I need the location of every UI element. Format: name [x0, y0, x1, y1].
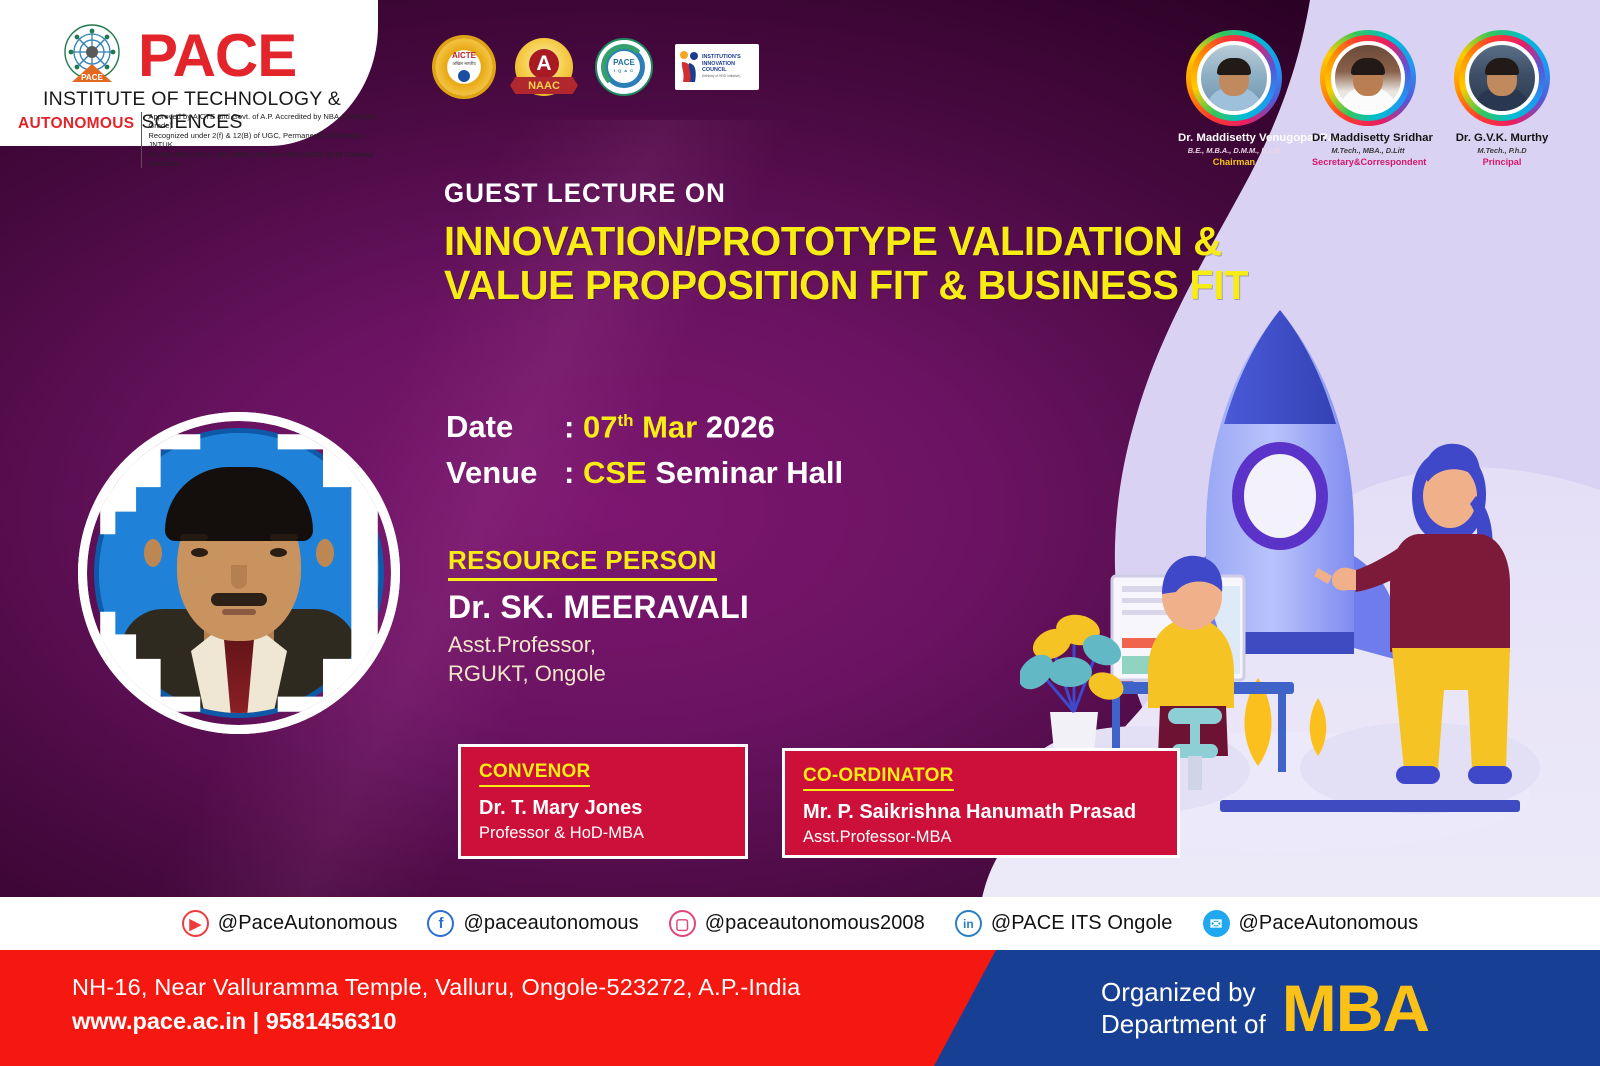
social-handle-instagram[interactable]: @paceautonomous2008: [705, 912, 925, 935]
leader-name: Dr. Maddisetty Venugopal Rao: [1178, 132, 1290, 145]
headline-line-2: VALUE PROPOSITION FIT & BUSINESS FIT: [444, 263, 1248, 307]
date-day: 07: [583, 409, 617, 444]
resource-person-designation: Asst.Professor,: [448, 630, 749, 659]
social-item-instagram[interactable]: ▢ @paceautonomous2008: [669, 910, 925, 937]
convenor-designation: Professor & HoD-MBA: [479, 824, 727, 843]
leadership-row: Dr. Maddisetty Venugopal Rao B.E., M.B.A…: [1178, 30, 1558, 167]
leader-qualification: M.Tech., MBA., D.Litt: [1312, 146, 1424, 155]
leader-role: Chairman: [1178, 157, 1290, 167]
naac-badge-sub: NAAC: [510, 77, 578, 94]
social-item-twitter[interactable]: ✉ @PaceAutonomous: [1203, 910, 1419, 937]
leader-role: Secretary&Correspondent: [1312, 157, 1424, 167]
convenor-name: Dr. T. Mary Jones: [479, 797, 727, 820]
convenor-heading: CONVENOR: [479, 761, 590, 787]
institution-logo-panel: PACE PACE INSTITUTE OF TECHNOLOGY & SCIE…: [0, 0, 378, 146]
aicte-badge-icon: AICTE अखिल भारतीय: [435, 38, 493, 96]
venue-highlight: CSE: [583, 455, 647, 490]
headline-title: INNOVATION/PROTOTYPE VALIDATION & VALUE …: [444, 219, 1248, 307]
date-day-suffix: th: [617, 411, 633, 430]
social-handle-linkedin[interactable]: @PACE ITS Ongole: [991, 912, 1173, 935]
date-month: Mar: [642, 409, 697, 444]
youtube-icon[interactable]: ▶: [182, 910, 209, 937]
facebook-icon[interactable]: f: [427, 910, 454, 937]
pace-wordmark: PACE: [138, 27, 296, 85]
aicte-badge-sub: अखिल भारतीय: [452, 60, 476, 68]
event-venue-row: Venue: CSE Seminar Hall: [446, 450, 843, 496]
leader-card-secretary: Dr. Maddisetty Sridhar M.Tech., MBA., D.…: [1312, 30, 1424, 167]
website-phone-text[interactable]: www.pace.ac.in | 9581456310: [72, 1008, 1010, 1035]
leader-qualification: M.Tech., P.h.D: [1446, 146, 1558, 155]
organized-line-1: Organized by: [1101, 976, 1266, 1008]
iic-badge-sub: (Ministry of HRD Initiative): [702, 73, 755, 79]
date-label: Date: [446, 404, 564, 450]
accreditation-line-2: Recognized under 2(f) & 12(B) of UGC, Pe…: [148, 131, 377, 150]
autonomous-label: AUTONOMOUS: [18, 112, 134, 133]
iic-badge-label: INSTITUTION'S INNOVATION COUNCIL: [702, 54, 755, 73]
venue-colon: :: [564, 455, 574, 490]
social-handle-facebook[interactable]: @paceautonomous: [463, 912, 638, 935]
leader-name: Dr. Maddisetty Sridhar: [1312, 132, 1424, 145]
iqac-badge-icon: PACE I Q A C: [595, 38, 653, 96]
coordinator-heading: CO-ORDINATOR: [803, 765, 954, 791]
coordinator-box: CO-ORDINATOR Mr. P. Saikrishna Hanumath …: [782, 748, 1180, 858]
address-text: NH-16, Near Valluramma Temple, Valluru, …: [72, 972, 1010, 1002]
svg-text:PACE: PACE: [81, 73, 103, 82]
social-handle-twitter[interactable]: @PaceAutonomous: [1239, 912, 1419, 935]
leader-photo-ring: [1320, 30, 1416, 126]
linkedin-icon[interactable]: in: [955, 910, 982, 937]
accreditation-text: Approved by AICTE and Govt. of A.P. Accr…: [141, 112, 377, 168]
leader-photo: [1197, 41, 1271, 115]
headline-pretitle: GUEST LECTURE ON: [444, 178, 1240, 209]
venue-name: Seminar Hall: [655, 455, 843, 490]
aicte-badge-label: AICTE: [452, 51, 476, 60]
accreditation-line-1: Approved by AICTE and Govt. of A.P. Accr…: [148, 112, 377, 131]
event-poster: PACE PACE INSTITUTE OF TECHNOLOGY & SCIE…: [0, 0, 1600, 1066]
organizer-panel: Organized by Department of MBA: [930, 950, 1600, 1066]
logo-row: PACE PACE: [56, 20, 296, 92]
resource-person-heading: RESOURCE PERSON: [448, 545, 717, 581]
social-item-linkedin[interactable]: in @PACE ITS Ongole: [955, 910, 1173, 937]
accreditation-row: AUTONOMOUS Approved by AICTE and Govt. o…: [18, 112, 377, 168]
naac-grade-label: A: [529, 49, 559, 79]
event-date-row: Date: 07th Mar 2026: [446, 398, 843, 450]
leader-photo-ring: [1454, 30, 1550, 126]
leader-photo-ring: [1186, 30, 1282, 126]
social-item-facebook[interactable]: f @paceautonomous: [427, 910, 638, 937]
organized-by-text: Organized by Department of: [1101, 976, 1266, 1040]
leader-qualification: B.E., M.B.A., D.M.M., D.Litt: [1178, 146, 1290, 155]
leader-photo: [1331, 41, 1405, 115]
speaker-photo-frame: [78, 412, 400, 734]
leader-card-chairman: Dr. Maddisetty Venugopal Rao B.E., M.B.A…: [1178, 30, 1290, 167]
resource-person-name: Dr. SK. MEERAVALI: [448, 589, 749, 626]
social-item-youtube[interactable]: ▶ @PaceAutonomous: [182, 910, 398, 937]
coordinator-name: Mr. P. Saikrishna Hanumath Prasad: [803, 801, 1159, 824]
department-name: MBA: [1282, 975, 1429, 1041]
leader-name: Dr. G.V.K. Murthy: [1446, 132, 1558, 145]
headline-block: GUEST LECTURE ON INNOVATION/PROTOTYPE VA…: [444, 178, 1273, 307]
resource-person-block: RESOURCE PERSON Dr. SK. MEERAVALI Asst.P…: [448, 545, 749, 688]
social-media-bar: ▶ @PaceAutonomous f @paceautonomous ▢ @p…: [0, 897, 1600, 950]
date-colon: :: [564, 409, 574, 444]
leader-role: Principal: [1446, 157, 1558, 167]
headline-line-1: INNOVATION/PROTOTYPE VALIDATION &: [444, 219, 1248, 263]
footer-bar: NH-16, Near Valluramma Temple, Valluru, …: [0, 950, 1600, 1066]
coordinator-designation: Asst.Professor-MBA: [803, 828, 1159, 847]
iic-badge-icon: INSTITUTION'S INNOVATION COUNCIL (Minist…: [675, 44, 759, 90]
iqac-badge-sub: I Q A C: [613, 67, 635, 75]
venue-label: Venue: [446, 450, 564, 496]
resource-person-institute: RGUKT, Ongole: [448, 659, 749, 688]
accreditation-badges: AICTE अखिल भारतीय A NAAC PACE I Q A C: [435, 38, 759, 96]
address-panel: NH-16, Near Valluramma Temple, Valluru, …: [0, 950, 1010, 1066]
twitter-icon[interactable]: ✉: [1203, 910, 1230, 937]
date-year: 2026: [706, 409, 775, 444]
leader-card-principal: Dr. G.V.K. Murthy M.Tech., P.h.D Princip…: [1446, 30, 1558, 167]
accreditation-line-3: An ISO 9001:2015, ISO 14001:2015 and ISO…: [148, 150, 377, 169]
social-handle-youtube[interactable]: @PaceAutonomous: [218, 912, 398, 935]
organized-line-2: Department of: [1101, 1008, 1266, 1040]
pace-emblem-icon: PACE: [56, 20, 128, 92]
event-details: Date: 07th Mar 2026 Venue: CSE Seminar H…: [446, 398, 843, 496]
naac-badge-icon: A NAAC: [515, 38, 573, 96]
leader-photo: [1465, 41, 1539, 115]
instagram-icon[interactable]: ▢: [669, 910, 696, 937]
iqac-badge-label: PACE: [613, 58, 635, 67]
speaker-corner-brackets: [78, 412, 400, 734]
resource-person-affiliation: Asst.Professor, RGUKT, Ongole: [448, 630, 749, 688]
convenor-box: CONVENOR Dr. T. Mary Jones Professor & H…: [458, 744, 748, 859]
